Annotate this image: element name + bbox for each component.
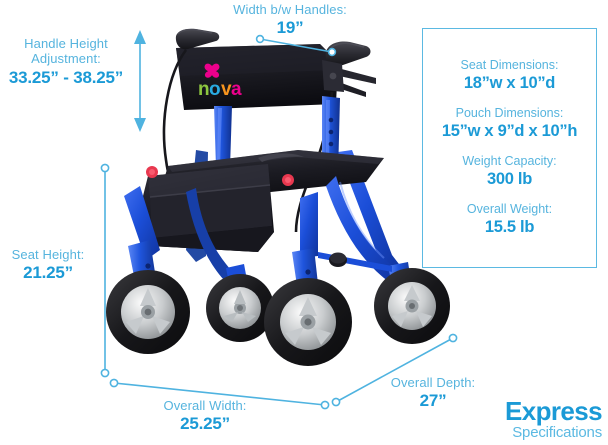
measurement-lines [0, 0, 608, 445]
seat-height-line [101, 164, 108, 376]
overall-width-line [110, 379, 328, 408]
handle-height-arrow [134, 30, 146, 132]
width-handles-line [257, 36, 336, 56]
overall-depth-line [332, 334, 456, 405]
specification-infographic: n o v a [0, 0, 608, 445]
